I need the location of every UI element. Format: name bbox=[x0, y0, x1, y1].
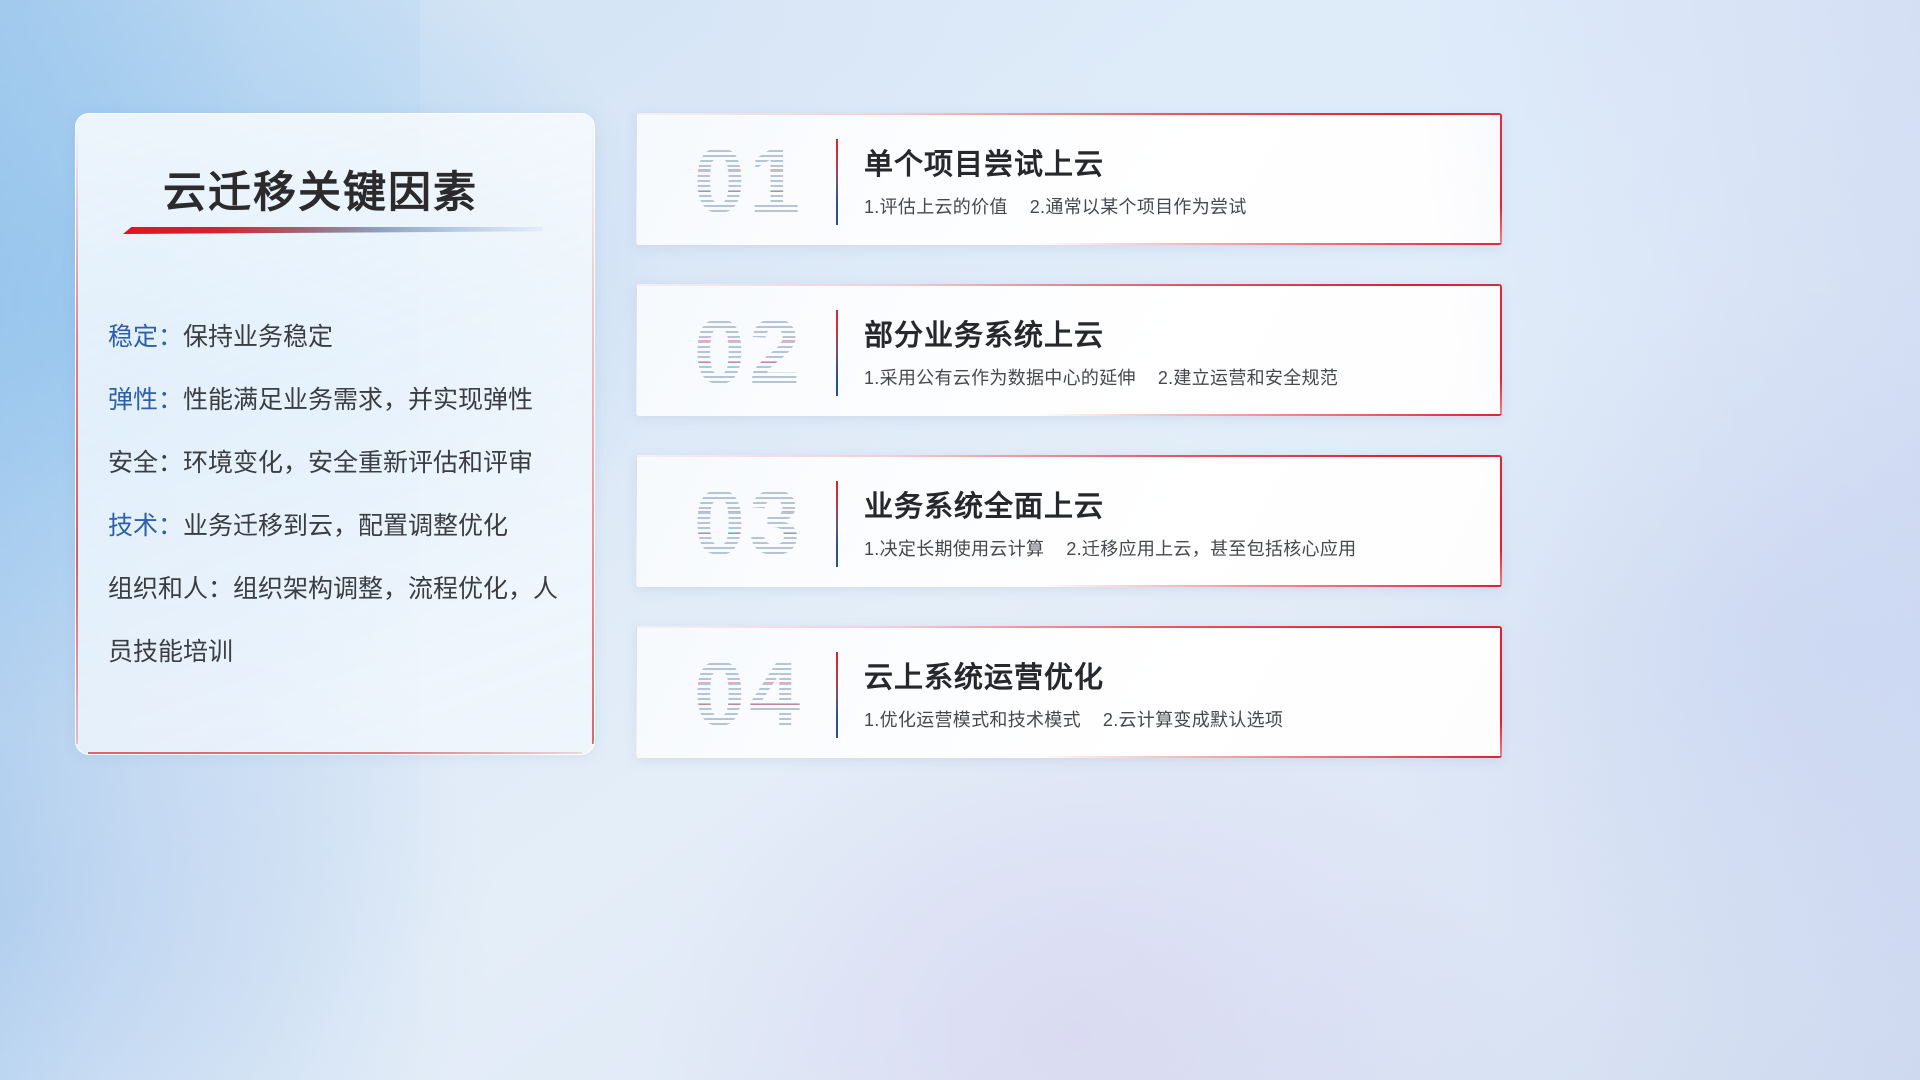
card-bottom-accent bbox=[1034, 243, 1502, 245]
stage-number: 02 bbox=[664, 296, 834, 408]
card-left-edge bbox=[636, 455, 637, 587]
card-left-edge bbox=[636, 626, 637, 758]
factor-label: 稳定： bbox=[108, 323, 183, 351]
factor-list: 稳定：保持业务稳定 弹性：性能满足业务需求，并实现弹性 安全：环境变化，安全重新… bbox=[108, 306, 576, 684]
slide-canvas: 云迁移关键因素 稳定：保持业务稳定 弹性：性能满足业务需求，并实现弹性 安全：环… bbox=[0, 0, 1920, 1080]
key-factors-panel: 云迁移关键因素 稳定：保持业务稳定 弹性：性能满足业务需求，并实现弹性 安全：环… bbox=[75, 113, 595, 755]
card-description-part-2: 2.云计算变成默认选项 bbox=[1103, 710, 1283, 730]
card-description: 1.决定长期使用云计算2.迁移应用上云，甚至包括核心应用 bbox=[864, 535, 1356, 561]
factor-label: 技术： bbox=[108, 512, 183, 540]
card-top-accent bbox=[636, 455, 1502, 457]
stage-card-01[interactable]: 01 01 单个项目尝试上云 1.评估上云的价值2.通常以某个项目作为尝试 bbox=[636, 113, 1502, 245]
stage-number: 01 bbox=[664, 125, 834, 237]
card-divider-bar bbox=[836, 310, 838, 396]
card-left-edge bbox=[636, 284, 637, 416]
panel-left-accent bbox=[76, 124, 78, 744]
card-description-part-2: 2.建立运营和安全规范 bbox=[1158, 368, 1338, 388]
factor-label: 安全： bbox=[108, 449, 183, 477]
card-description: 1.采用公有云作为数据中心的延伸2.建立运营和安全规范 bbox=[864, 364, 1338, 390]
card-title: 部分业务系统上云 bbox=[864, 312, 1104, 354]
stage-number: 03 bbox=[664, 467, 834, 579]
card-description-part-1: 1.评估上云的价值 bbox=[864, 197, 1008, 217]
card-bottom-accent bbox=[1034, 585, 1502, 587]
factor-text: 性能满足业务需求，并实现弹性 bbox=[183, 386, 533, 414]
card-divider-bar bbox=[836, 652, 838, 738]
list-item: 弹性：性能满足业务需求，并实现弹性 bbox=[108, 369, 576, 432]
card-left-edge bbox=[636, 113, 637, 245]
list-item: 安全：环境变化，安全重新评估和评审 bbox=[108, 432, 576, 495]
card-right-accent bbox=[1500, 284, 1502, 416]
panel-right-accent bbox=[592, 124, 594, 744]
stage-card-04[interactable]: 04 04 云上系统运营优化 1.优化运营模式和技术模式2.云计算变成默认选项 bbox=[636, 626, 1502, 758]
card-divider-bar bbox=[836, 139, 838, 225]
card-description-part-2: 2.迁移应用上云，甚至包括核心应用 bbox=[1066, 539, 1356, 559]
card-description-part-1: 1.采用公有云作为数据中心的延伸 bbox=[864, 368, 1136, 388]
card-top-accent bbox=[636, 113, 1502, 115]
card-right-accent bbox=[1500, 626, 1502, 758]
card-description: 1.优化运营模式和技术模式2.云计算变成默认选项 bbox=[864, 706, 1283, 732]
list-item: 稳定：保持业务稳定 bbox=[108, 306, 576, 369]
card-description: 1.评估上云的价值2.通常以某个项目作为尝试 bbox=[864, 193, 1247, 219]
page-title: 云迁移关键因素 bbox=[163, 158, 478, 220]
list-item: 组织和人：组织架构调整，流程优化，人员技能培训 bbox=[108, 558, 576, 684]
card-right-accent bbox=[1500, 113, 1502, 245]
card-description-part-2: 2.通常以某个项目作为尝试 bbox=[1030, 197, 1247, 217]
list-item: 技术：业务迁移到云，配置调整优化 bbox=[108, 495, 576, 558]
card-title: 业务系统全面上云 bbox=[864, 483, 1104, 525]
card-description-part-1: 1.决定长期使用云计算 bbox=[864, 539, 1044, 559]
stage-card-02[interactable]: 02 02 部分业务系统上云 1.采用公有云作为数据中心的延伸2.建立运营和安全… bbox=[636, 284, 1502, 416]
card-top-accent bbox=[636, 284, 1502, 286]
card-divider-bar bbox=[836, 481, 838, 567]
card-description-part-1: 1.优化运营模式和技术模式 bbox=[864, 710, 1081, 730]
card-bottom-accent bbox=[1034, 414, 1502, 416]
stage-card-03[interactable]: 03 03 业务系统全面上云 1.决定长期使用云计算2.迁移应用上云，甚至包括核… bbox=[636, 455, 1502, 587]
factor-label: 弹性： bbox=[108, 386, 183, 414]
card-title: 单个项目尝试上云 bbox=[864, 141, 1104, 183]
card-bottom-accent bbox=[1034, 756, 1502, 758]
card-top-accent bbox=[636, 626, 1502, 628]
panel-bottom-accent bbox=[88, 752, 582, 754]
migration-stage-cards: 01 01 单个项目尝试上云 1.评估上云的价值2.通常以某个项目作为尝试 02… bbox=[636, 113, 1502, 797]
card-title: 云上系统运营优化 bbox=[864, 654, 1104, 696]
factor-text: 保持业务稳定 bbox=[183, 323, 333, 351]
factor-label: 组织和人： bbox=[108, 575, 233, 603]
factor-text: 环境变化，安全重新评估和评审 bbox=[183, 449, 533, 477]
card-right-accent bbox=[1500, 455, 1502, 587]
factor-text: 业务迁移到云，配置调整优化 bbox=[183, 512, 508, 540]
stage-number: 04 bbox=[664, 638, 834, 750]
title-underline-gradient bbox=[123, 227, 543, 234]
